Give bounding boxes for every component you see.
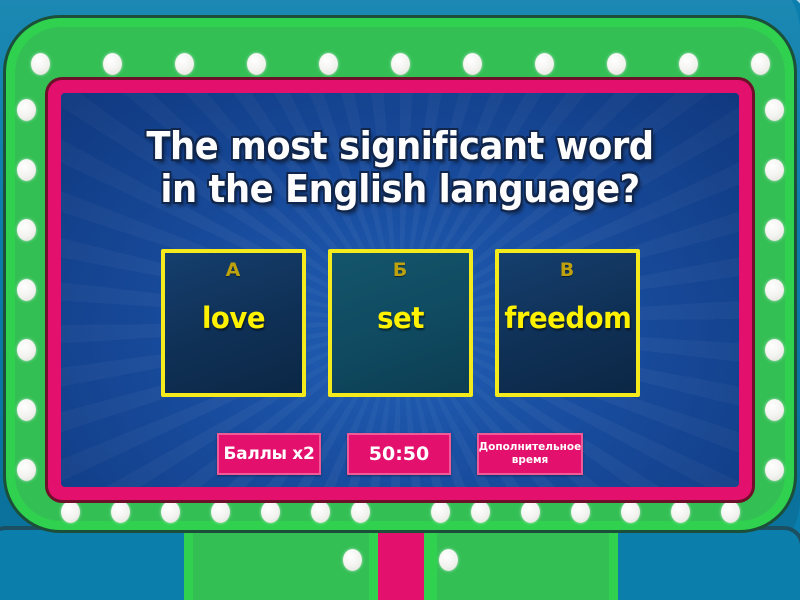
marquee-bulb-right-2 bbox=[765, 219, 784, 241]
marquee-bulb-top-1 bbox=[103, 53, 122, 75]
lifeline-double-points-button[interactable]: Баллы x2 bbox=[217, 433, 321, 475]
marquee-bulb-bottom-3 bbox=[211, 501, 230, 523]
marquee-bulb-bottom-10 bbox=[571, 501, 590, 523]
marquee-bulb-left-5 bbox=[17, 399, 36, 421]
screen-bezel: The most significant word in the English… bbox=[48, 80, 752, 500]
answer-option-a[interactable]: А love bbox=[161, 249, 306, 397]
answer-option-c[interactable]: В freedom bbox=[495, 249, 640, 397]
marquee-bulb-top-5 bbox=[391, 53, 410, 75]
marquee-bulb-left-4 bbox=[17, 339, 36, 361]
quiz-game-screen: The most significant word in the English… bbox=[0, 0, 800, 600]
lifeline-fifty-fifty-button[interactable]: 50:50 bbox=[347, 433, 451, 475]
marquee-bulb-top-6 bbox=[463, 53, 482, 75]
marquee-bulb-right-3 bbox=[765, 279, 784, 301]
question-text: The most significant word in the English… bbox=[103, 125, 696, 211]
question-line-2: in the English language? bbox=[103, 168, 696, 211]
marquee-bulb-bottom-1 bbox=[111, 501, 130, 523]
marquee-bulb-left-6 bbox=[17, 459, 36, 481]
question-line-1: The most significant word bbox=[103, 125, 696, 168]
marquee-bulb-bottom-8 bbox=[471, 501, 490, 523]
marquee-bulb-left-1 bbox=[17, 159, 36, 181]
marquee-bulb-bottom-12 bbox=[671, 501, 690, 523]
marquee-bulb-leg-left bbox=[343, 549, 362, 571]
answer-text-c: freedom bbox=[504, 301, 630, 335]
answer-option-b[interactable]: Б set bbox=[328, 249, 473, 397]
marquee-bulb-top-0 bbox=[31, 53, 50, 75]
answer-letter-b: Б bbox=[332, 259, 469, 281]
marquee-bulb-bottom-9 bbox=[521, 501, 540, 523]
marquee-bulb-left-0 bbox=[17, 99, 36, 121]
question-screen: The most significant word in the English… bbox=[61, 93, 739, 487]
answer-letter-a: А bbox=[165, 259, 302, 281]
marquee-bulb-top-9 bbox=[679, 53, 698, 75]
marquee-bulb-top-3 bbox=[247, 53, 266, 75]
marquee-bulb-bottom-11 bbox=[621, 501, 640, 523]
marquee-bulb-bottom-0 bbox=[61, 501, 80, 523]
marquee-bulb-bottom-6 bbox=[351, 501, 370, 523]
answer-letter-c: В bbox=[499, 259, 636, 281]
marquee-bulb-top-2 bbox=[175, 53, 194, 75]
marquee-bulb-bottom-13 bbox=[721, 501, 740, 523]
marquee-bulb-right-4 bbox=[765, 339, 784, 361]
marquee-bulb-top-7 bbox=[535, 53, 554, 75]
marquee-bulb-right-1 bbox=[765, 159, 784, 181]
marquee-bulb-right-6 bbox=[765, 459, 784, 481]
lifeline-extra-time-button[interactable]: Дополнительное время bbox=[477, 433, 583, 475]
marquee-bulb-right-5 bbox=[765, 399, 784, 421]
lifeline-buttons: Баллы x2 50:50 Дополнительное время bbox=[61, 433, 739, 475]
answer-options: А love Б set В freedom bbox=[61, 249, 739, 397]
answer-text-b: set bbox=[337, 301, 463, 335]
answer-text-a: love bbox=[170, 301, 296, 335]
marquee-bulb-bottom-7 bbox=[431, 501, 450, 523]
marquee-bulb-left-3 bbox=[17, 279, 36, 301]
marquee-bulb-bottom-2 bbox=[161, 501, 180, 523]
marquee-bulb-top-10 bbox=[751, 53, 770, 75]
marquee-bulb-leg-right bbox=[439, 549, 458, 571]
marquee-bulb-bottom-4 bbox=[261, 501, 280, 523]
marquee-bulb-right-0 bbox=[765, 99, 784, 121]
marquee-bulb-top-4 bbox=[319, 53, 338, 75]
marquee-bulb-left-2 bbox=[17, 219, 36, 241]
marquee-bulb-bottom-5 bbox=[311, 501, 330, 523]
marquee-bulb-top-8 bbox=[607, 53, 626, 75]
